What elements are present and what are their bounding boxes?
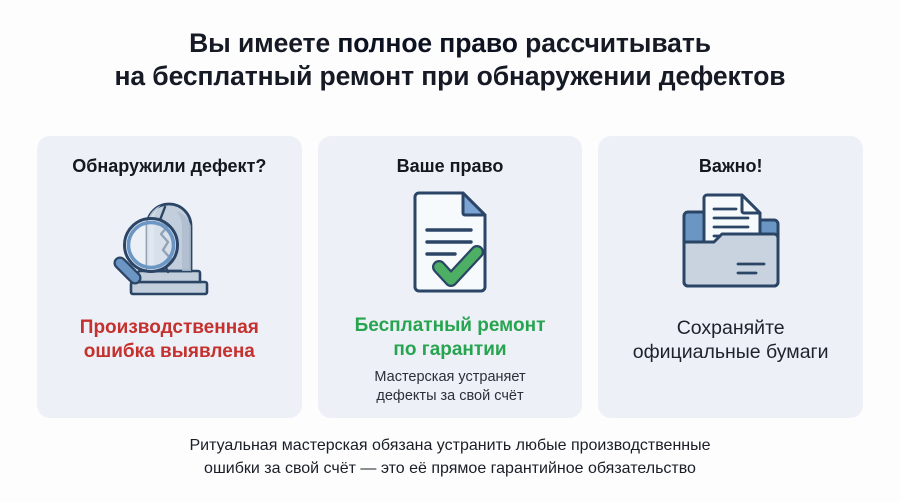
card-important: Важно! Сохраняйте офиц [598,136,863,418]
accent-line-1: Производственная [49,316,290,340]
page-header: Вы имеете полное право рассчитывать на б… [0,0,900,93]
card-subtext: Мастерская устраняет дефекты за свой счё… [330,368,571,406]
title-part-bold: полное право [337,28,518,58]
magnifier-over-cracked-tombstone-icon [102,187,236,299]
footer-line-2: ошибки за свой счёт — это её прямое гара… [0,457,900,480]
accent-line-2: по гарантии [330,338,571,362]
title-part-after: рассчитывать [518,28,711,58]
subtext-line-1: Мастерская устраняет [330,368,571,387]
card-accent-text: Сохраняйте официальные бумаги [598,316,863,364]
card-accent-text: Бесплатный ремонт по гарантии Мастерская… [318,314,583,406]
card-defect-found: Обнаружили дефект? [37,136,302,418]
card-your-right: Ваше право Бесплатный ремонт по гарантии… [318,136,583,418]
accent-line-1: Сохраняйте [610,316,851,340]
footer-line-1: Ритуальная мастерская обязана устранить … [0,434,900,457]
card-heading: Важно! [699,155,763,177]
footer-note: Ритуальная мастерская обязана устранить … [0,434,900,480]
card-heading: Обнаружили дефект? [72,155,266,177]
document-with-green-check-icon [407,187,493,299]
folder-with-document-icon [676,187,786,299]
page-title-line-1: Вы имеете полное право рассчитывать [0,27,900,60]
title-part-before: Вы имеете [189,28,337,58]
accent-line-2: официальные бумаги [610,340,851,364]
accent-line-1: Бесплатный ремонт [330,314,571,338]
card-accent-text: Производственная ошибка выявлена [37,316,302,363]
subtext-line-2: дефекты за свой счёт [330,387,571,406]
cards-row: Обнаружили дефект? [37,136,863,418]
page-title-line-2: на бесплатный ремонт при обнаружении деф… [0,60,900,93]
accent-line-2: ошибка выявлена [49,340,290,364]
card-heading: Ваше право [397,155,504,177]
